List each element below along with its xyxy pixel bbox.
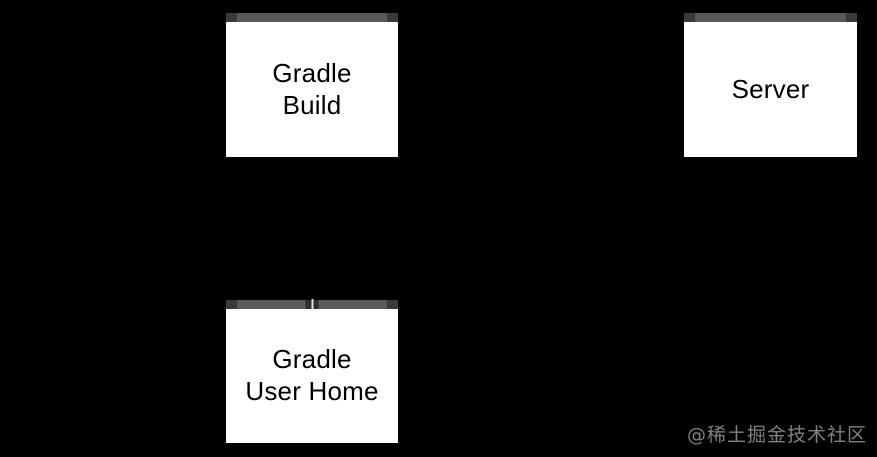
- header-cap-left-icon: [684, 13, 695, 22]
- node-label: Server: [726, 74, 816, 106]
- node-label: Gradle Build: [266, 58, 357, 121]
- diagram-canvas: Gradle Build Server Gradle User Home @稀土…: [0, 0, 877, 457]
- header-notch-icon: [306, 300, 319, 309]
- node-server[interactable]: Server: [684, 13, 857, 157]
- watermark: @稀土掘金技术社区: [687, 420, 867, 447]
- node-body: Server: [684, 22, 857, 157]
- header-cap-left-icon: [226, 300, 237, 309]
- header-cap-right-icon: [387, 13, 398, 22]
- node-body: Gradle Build: [226, 22, 398, 157]
- node-header-bar: [226, 13, 398, 22]
- node-header-bar: [226, 300, 398, 309]
- node-body: Gradle User Home: [226, 309, 398, 443]
- node-gradle-user-home[interactable]: Gradle User Home: [226, 300, 398, 443]
- node-header-bar: [684, 13, 857, 22]
- header-cap-right-icon: [387, 300, 398, 309]
- header-cap-left-icon: [226, 13, 237, 22]
- node-gradle-build[interactable]: Gradle Build: [226, 13, 398, 157]
- header-cap-right-icon: [846, 13, 857, 22]
- node-label: Gradle User Home: [239, 344, 384, 407]
